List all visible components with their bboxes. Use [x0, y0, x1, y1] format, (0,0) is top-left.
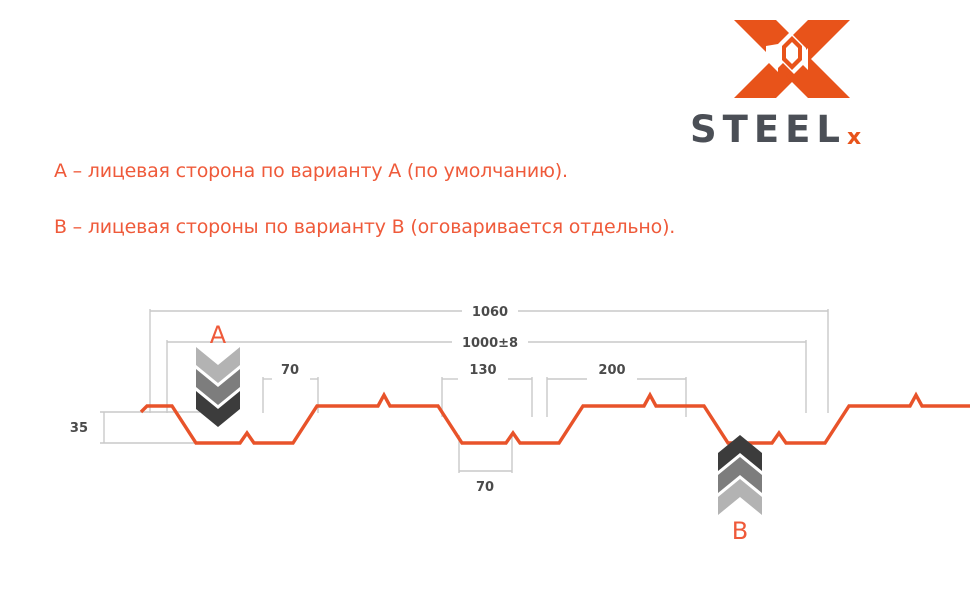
dimension-overall-width: 1060 — [150, 305, 828, 413]
steelx-x-mark-icon — [732, 18, 852, 100]
dimension-crest-width: 70 — [263, 363, 318, 413]
brand-logo: STEEL x — [690, 18, 905, 143]
logo-wordmark: STEEL x — [690, 111, 905, 145]
dimension-label-130: 130 — [469, 363, 496, 378]
marker-a: A — [196, 321, 240, 427]
marker-a-label: A — [210, 321, 227, 349]
dimension-label-70-top: 70 — [281, 363, 299, 378]
marker-b: B — [718, 435, 762, 545]
legend-variant-b: B – лицевая стороны по варианту B (огова… — [54, 216, 675, 238]
marker-b-label: B — [732, 517, 748, 545]
dimension-rib-pitch: 200 — [547, 363, 686, 417]
dimension-label-1000: 1000±8 — [462, 336, 518, 351]
profile-cross-section-line — [141, 395, 970, 443]
logo-word-x-suffix: x — [847, 127, 861, 149]
dimension-label-35: 35 — [70, 421, 88, 436]
legend-variant-a: A – лицевая сторона по варианту A (по ум… — [54, 160, 568, 182]
dimension-valley-pitch: 130 — [442, 363, 532, 417]
dimension-label-70-bottom: 70 — [476, 480, 494, 495]
profile-technical-drawing: 1060 1000±8 70 130 200 70 — [0, 285, 970, 555]
logo-word-steel: STEEL — [690, 111, 846, 148]
dimension-label-1060: 1060 — [472, 305, 508, 320]
dimension-label-200: 200 — [598, 363, 625, 378]
